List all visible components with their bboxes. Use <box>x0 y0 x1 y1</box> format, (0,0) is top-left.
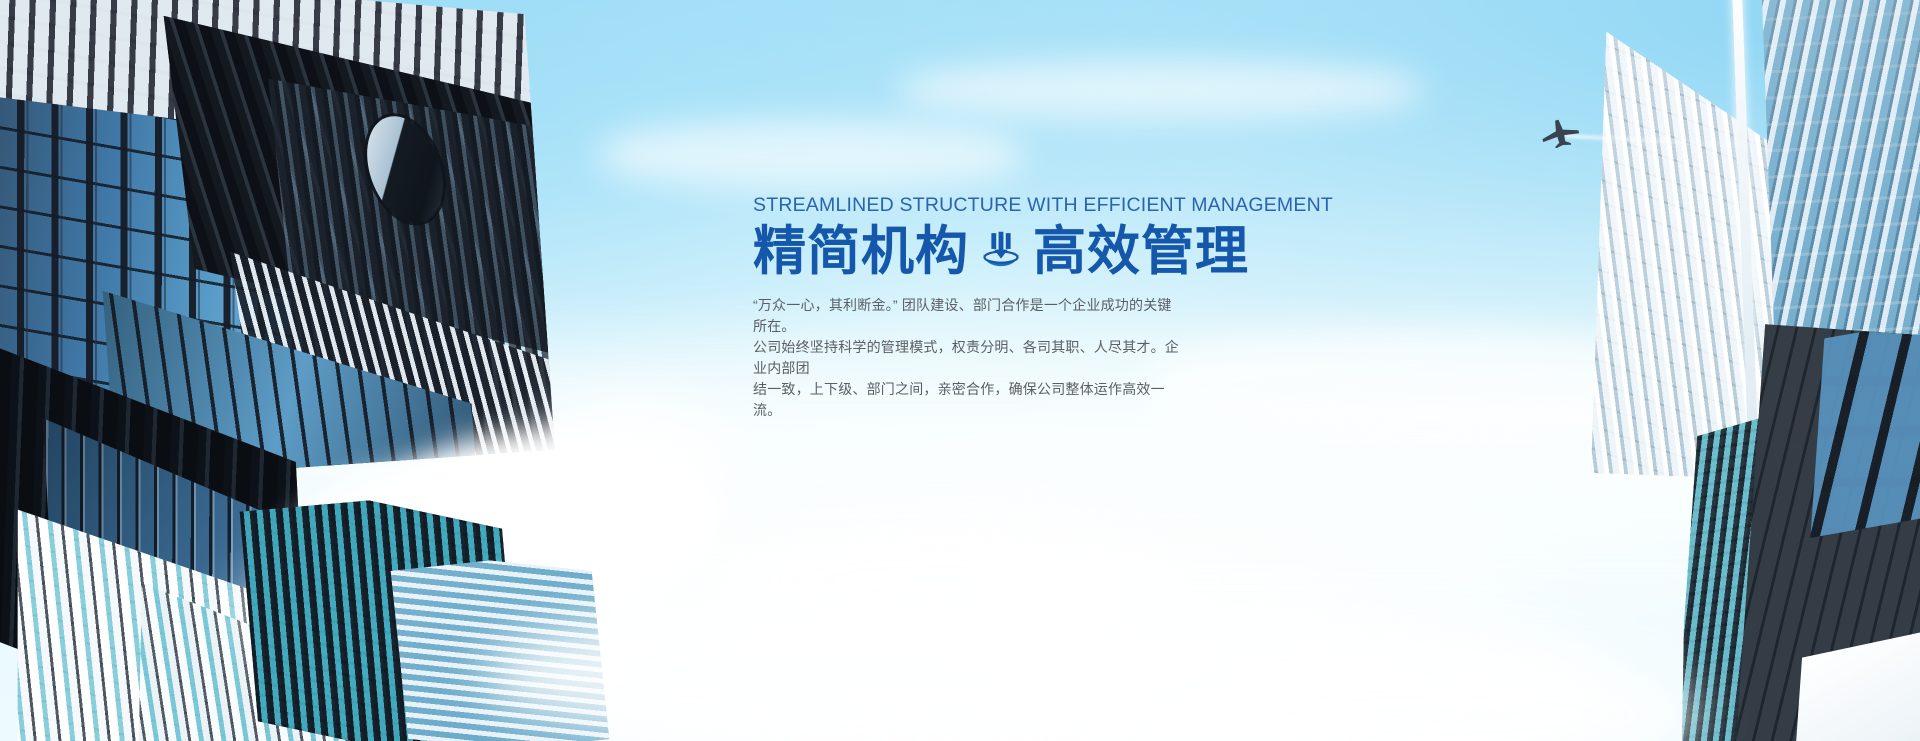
paragraph-line: 公司始终坚持科学的管理模式，权责分明、各司其职、人尽其才。企业内部团 <box>753 337 1183 379</box>
banner-paragraph: “万众一心，其利断金。” 团队建设、部门合作是一个企业成功的关键所在。 公司始终… <box>753 295 1183 421</box>
cloud-wisp-upper-right <box>900 60 1420 120</box>
headline-right-text: 高效管理 <box>1033 224 1249 279</box>
paragraph-line: 结一致，上下级、部门之间，亲密合作，确保公司整体运作高效一流。 <box>753 379 1183 421</box>
paragraph-line: “万众一心，其利断金。” 团队建设、部门合作是一个企业成功的关键所在。 <box>753 295 1183 337</box>
cloud-wisp-upper-center <box>600 120 1020 190</box>
banner-headline: 精简机构 高效管理 <box>753 224 1213 279</box>
building-right-mid <box>1675 320 1920 741</box>
company-logo-mark-icon <box>979 228 1023 274</box>
airplane-icon <box>1538 118 1582 148</box>
building-right-mid-windows <box>1810 320 1920 538</box>
hero-banner: STREAMLINED STRUCTURE WITH EFFICIENT MAN… <box>0 0 1920 741</box>
headline-left-text: 精简机构 <box>753 224 969 279</box>
banner-eyebrow-text: STREAMLINED STRUCTURE WITH EFFICIENT MAN… <box>753 196 1213 216</box>
banner-text-block: STREAMLINED STRUCTURE WITH EFFICIENT MAN… <box>753 196 1213 421</box>
